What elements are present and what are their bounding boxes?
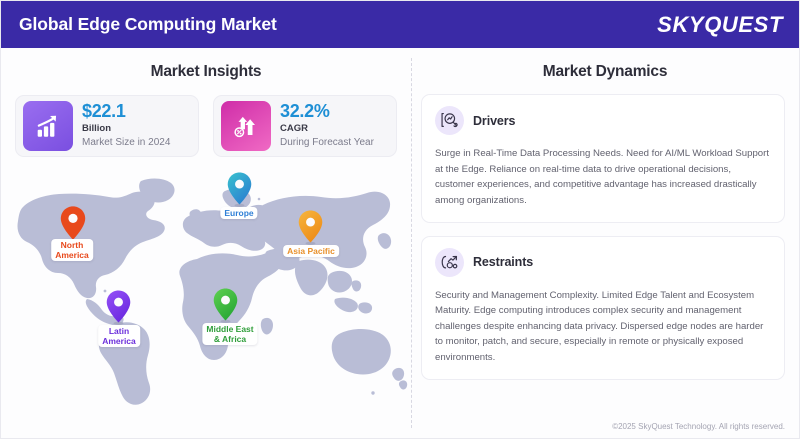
metric-text-group: 32.2% CAGR During Forecast Year: [280, 102, 374, 149]
market-dynamics-title: Market Dynamics: [411, 63, 799, 81]
map-pin-label-latin-america: Latin America: [98, 325, 140, 347]
infographic-root: Global Edge Computing Market SKYQUEST Ma…: [0, 0, 800, 439]
metric-unit: Billion: [82, 122, 170, 136]
map-label-line: Europe: [224, 208, 253, 218]
map-label-line: America: [102, 336, 136, 346]
declining-chart-icon: [435, 248, 464, 277]
bar-chart-growth-icon: [23, 101, 73, 151]
map-pin-label-asia-pacific: Asia Pacific: [283, 245, 339, 257]
percent-arrows-up-icon: [221, 101, 271, 151]
dynamics-card-drivers[interactable]: Drivers Surge in Real-Time Data Processi…: [421, 94, 785, 223]
map-pin-label-europe: Europe: [220, 207, 257, 219]
map-label-line: Asia Pacific: [287, 246, 335, 256]
dynamics-card-body: Surge in Real-Time Data Processing Needs…: [435, 146, 771, 209]
footer-copyright: ©2025 SkyQuest Technology. All rights re…: [612, 422, 785, 431]
map-label-line: & Africa: [206, 334, 253, 344]
map-label-line: Middle East: [206, 324, 253, 334]
metric-unit: CAGR: [280, 122, 374, 136]
world-map: North America: [1, 163, 411, 413]
page-header: Global Edge Computing Market SKYQUEST: [1, 1, 799, 48]
brand-logo: SKYQUEST: [657, 12, 783, 38]
metric-subtitle: During Forecast Year: [280, 136, 374, 150]
map-label-line: America: [55, 250, 89, 260]
metric-cards-row: $22.1 Billion Market Size in 2024: [1, 95, 411, 157]
map-pin-label-north-america: North America: [51, 239, 93, 261]
metric-subtitle: Market Size in 2024: [82, 136, 170, 150]
page-title: Global Edge Computing Market: [19, 14, 277, 35]
dynamics-card-title: Drivers: [473, 114, 515, 128]
metric-card-cagr[interactable]: 32.2% CAGR During Forecast Year: [213, 95, 397, 157]
metric-value: $22.1: [82, 102, 170, 121]
map-label-line: Latin: [102, 326, 136, 336]
metric-text-group: $22.1 Billion Market Size in 2024: [82, 102, 170, 149]
dynamics-card-restraints[interactable]: Restraints Security and Management Compl…: [421, 236, 785, 380]
metric-value: 32.2%: [280, 102, 374, 121]
market-insights-panel: Market Insights: [1, 48, 411, 439]
body-wrapper: Market Insights: [1, 48, 799, 439]
dynamics-card-header: Drivers: [435, 106, 771, 135]
dynamics-card-title: Restraints: [473, 255, 533, 269]
market-insights-title: Market Insights: [1, 63, 411, 81]
chart-magnifier-icon: [435, 106, 464, 135]
map-pin-label-middle-east-africa: Middle East & Africa: [202, 323, 257, 345]
market-dynamics-panel: Market Dynamics: [411, 48, 799, 439]
dynamics-card-header: Restraints: [435, 248, 771, 277]
metric-card-market-size[interactable]: $22.1 Billion Market Size in 2024: [15, 95, 199, 157]
map-label-line: North: [55, 240, 89, 250]
dynamics-card-body: Security and Management Complexity. Limi…: [435, 288, 771, 366]
